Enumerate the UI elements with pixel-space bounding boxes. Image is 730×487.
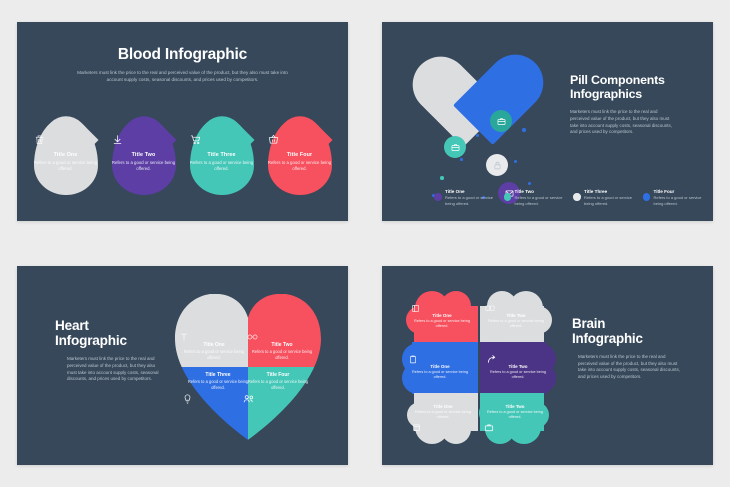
droplet-title: Title Three [190,152,254,158]
accent-dot [522,128,526,132]
accent-dot [460,158,463,161]
briefcase-icon [484,423,546,432]
page-title-line-1: Brain [572,316,704,331]
legend-label: Title Four [654,189,703,194]
lobe-sub: Refers to a good or service being offere… [411,319,473,329]
heart-label-1: Title One Refers to a good or service be… [179,332,249,361]
droplet-item-3[interactable]: Title Three Refers to a good or service … [190,117,254,195]
slide-blood-infographic[interactable]: Blood Infographic Marketers must link th… [17,22,348,221]
pill-illustration [394,36,566,208]
legend-label: Title Two [515,189,564,194]
download-icon [112,134,176,145]
droplet-title: Title Two [112,152,176,158]
slide-brain-infographic[interactable]: Title One Refers to a good or service be… [382,266,713,465]
lobe-title: Title Two [485,313,547,318]
legend-item-2[interactable]: Title Two Refers to a good or service be… [504,189,564,206]
lobe-sub: Refers to a good or service being offere… [485,319,547,329]
lobe-title: Title One [411,313,473,318]
slide-wrap-heart: Heart Infographic Marketers must link th… [0,244,365,487]
brain-illustration: Title One Refers to a good or service be… [406,292,552,444]
lobe-label: Title One Refers to a good or service be… [409,355,471,380]
page-title: Blood Infographic [17,46,348,63]
legend-label: Title One [445,189,494,194]
lobe-sub: Refers to a good or service being offere… [409,370,471,380]
cart-icon [190,134,254,145]
heart-label-sub: Refers to a good or service being offere… [179,349,249,360]
bubble-lock[interactable] [486,154,508,176]
heart-label-sub: Refers to a good or service being offere… [247,349,317,360]
basket-icon [268,134,332,145]
heart-label-title: Title Two [247,342,317,348]
lobe-label: Title Two Refers to a good or service be… [485,304,547,329]
clipboard-icon [409,355,471,364]
brain-header: Brain Infographic Marketers must link th… [572,316,704,381]
lobe-sub: Refers to a good or service being offere… [412,410,474,420]
heart-label-2: Title Two Refers to a good or service be… [247,332,317,361]
lobe-title: Title Two [484,404,546,409]
glasses-icon [247,332,317,342]
droplet-subtitle: Refers to a good or service being offere… [190,160,254,172]
legend-bullet [643,193,651,201]
legend-sub: Refers to a good or service being offere… [515,195,564,206]
cards-icon [485,304,547,313]
droplet-item-4[interactable]: Title Four Refers to a good or service b… [268,117,332,195]
droplet-subtitle: Refers to a good or service being offere… [268,160,332,172]
slide-wrap-pill: Pill Components Infographics Marketers m… [365,0,730,244]
lobe-label: Title One Refers to a good or service be… [412,404,474,432]
lobe-sub: Refers to a good or service being offere… [484,410,546,420]
lobe-label: Title Two Refers to a good or service be… [487,355,549,380]
page-title-line-2: Infographic [572,331,704,346]
slide-pill-components[interactable]: Pill Components Infographics Marketers m… [382,22,713,221]
accent-dot [440,176,444,180]
brain-paragraph: Marketers must link the price to the rea… [578,354,682,381]
page-title-line-1: Pill Components [570,74,702,88]
droplet-item-1[interactable]: Title One Refers to a good or service be… [34,117,98,195]
lobe-title: Title One [409,364,471,369]
briefcase-icon [451,143,460,152]
droplet-subtitle: Refers to a good or service being offere… [112,160,176,172]
blood-paragraph: Marketers must link the price to the rea… [74,69,292,84]
slide-wrap-blood: Blood Infographic Marketers must link th… [0,0,365,244]
heart-label-4: Title Four Refers to a good or service b… [243,372,313,405]
slide-heart-infographic[interactable]: Heart Infographic Marketers must link th… [17,266,348,465]
page-title-line-2: Infographics [570,88,702,102]
pill-paragraph: Marketers must link the price to the rea… [570,109,674,136]
brain-lobe-left-2[interactable]: Title One Refers to a good or service be… [402,342,478,394]
lobe-title: Title Two [487,364,549,369]
droplet-subtitle: Refers to a good or service being offere… [34,160,98,172]
heart-header: Heart Infographic Marketers must link th… [55,318,175,383]
legend-label: Title Three [584,189,633,194]
pill-header: Pill Components Infographics Marketers m… [570,74,702,136]
legend-bullet [504,193,512,201]
brain-lobe-right-1[interactable]: Title Two Refers to a good or service be… [480,292,552,342]
group-icon [243,394,313,404]
pill-legend: Title One Refers to a good or service be… [434,189,702,206]
heart-illustration: Title One Refers to a good or service be… [175,294,321,440]
lobe-sub: Refers to a good or service being offere… [487,370,549,380]
legend-item-4[interactable]: Title Four Refers to a good or service b… [643,189,703,206]
slides-grid: Blood Infographic Marketers must link th… [0,0,730,487]
brain-lobe-right-3[interactable]: Title Two Refers to a good or service be… [480,393,550,444]
droplet-title: Title One [34,152,98,158]
trash-icon [34,134,98,145]
accent-dot [514,160,517,163]
bubble-briefcase-2[interactable] [444,136,466,158]
brain-lobe-left-1[interactable]: Title One Refers to a good or service be… [406,292,478,342]
heart-label-sub: Refers to a good or service being offere… [243,379,313,390]
droplet-title: Title Four [268,152,332,158]
legend-bullet [434,193,442,201]
lobe-label: Title Two Refers to a good or service be… [484,404,546,432]
window-icon [412,423,474,432]
arrow-icon [487,355,549,364]
heart-shape [175,294,321,440]
lobe-title: Title One [412,404,474,409]
legend-sub: Refers to a good or service being offere… [654,195,703,206]
bubble-briefcase-1[interactable] [490,110,512,132]
brain-lobe-right-2[interactable]: Title Two Refers to a good or service be… [480,342,556,394]
book-icon [411,304,473,313]
lobe-label: Title One Refers to a good or service be… [411,304,473,329]
droplet-group: Title One Refers to a good or service be… [17,117,348,195]
heart-label-title: Title Four [243,372,313,378]
text-icon [179,332,249,342]
legend-sub: Refers to a good or service being offere… [445,195,494,206]
briefcase-icon [497,117,506,126]
heart-label-title: Title One [179,342,249,348]
heart-paragraph: Marketers must link the price to the rea… [67,356,165,383]
legend-item-3[interactable]: Title Three Refers to a good or service … [573,189,633,206]
blood-header: Blood Infographic Marketers must link th… [17,46,348,84]
slide-wrap-brain: Title One Refers to a good or service be… [365,244,730,487]
page-title-line-1: Heart [55,318,175,333]
lock-icon [493,161,502,170]
page-title-line-2: Infographic [55,333,175,348]
droplet-item-2[interactable]: Title Two Refers to a good or service be… [112,117,176,195]
brain-lobe-left-3[interactable]: Title One Refers to a good or service be… [408,393,478,444]
accent-dot [528,182,531,185]
legend-bullet [573,193,581,201]
accent-dot [476,134,479,137]
legend-sub: Refers to a good or service being offere… [584,195,633,206]
legend-item-1[interactable]: Title One Refers to a good or service be… [434,189,494,206]
